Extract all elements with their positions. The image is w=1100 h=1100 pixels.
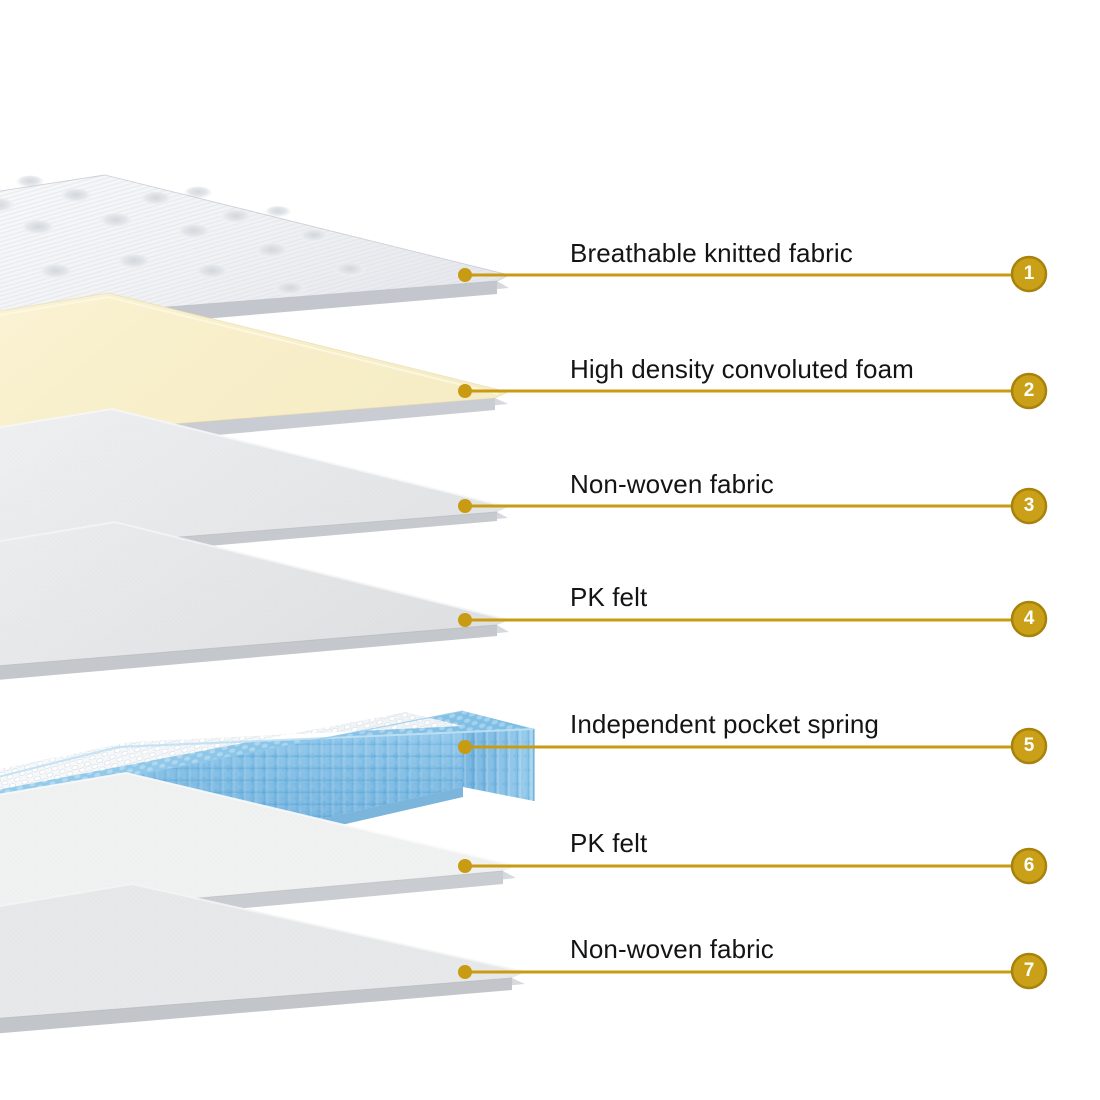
exploded-layers-illustration [0, 0, 1100, 1100]
callout-label-3: Non-woven fabric [570, 471, 774, 497]
callout-label-4: PK felt [570, 584, 647, 610]
callout-label-6: PK felt [570, 830, 647, 856]
mattress-layers-figure: Breathable knitted fabric High density c… [0, 0, 1100, 1100]
badge-circle-1 [1012, 257, 1046, 291]
badge-circle-4 [1012, 602, 1046, 636]
callout-label-7: Non-woven fabric [570, 936, 774, 962]
badge-circle-7 [1012, 954, 1046, 988]
badge-circle-3 [1012, 489, 1046, 523]
callout-label-1: Breathable knitted fabric [570, 240, 853, 266]
badge-circle-2 [1012, 374, 1046, 408]
callout-label-5: Independent pocket spring [570, 711, 879, 737]
badge-circle-5 [1012, 729, 1046, 763]
badge-circle-6 [1012, 849, 1046, 883]
callout-label-2: High density convoluted foam [570, 356, 914, 382]
